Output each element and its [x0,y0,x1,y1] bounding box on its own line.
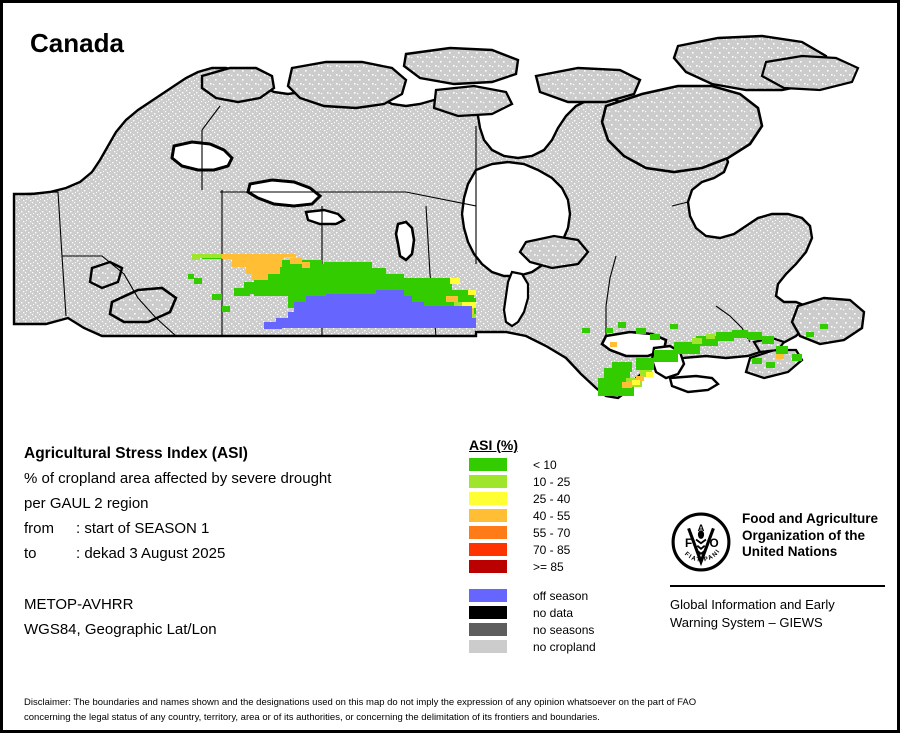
legend-label: 10 - 25 [533,475,570,489]
legend-label: no cropland [533,640,596,654]
legend-title: ASI (%) [469,437,518,453]
legend-swatch [469,475,507,488]
legend-label: 40 - 55 [533,509,570,523]
asi-region-level: per GAUL 2 region [24,491,444,516]
legend-label: >= 85 [533,560,564,574]
fao-logo-letter-o: O [709,537,718,550]
legend-label: 25 - 40 [533,492,570,506]
legend-label: no data [533,606,573,620]
legend-swatch [469,589,507,602]
giews-line2: Warning System – GIEWS [670,614,885,632]
legend-item: 40 - 55 [443,508,643,523]
map-description-block: Agricultural Stress Index (ASI) % of cro… [24,441,444,642]
legend-swatch [469,509,507,522]
period-from-row: from: start of SEASON 1 [24,516,444,541]
period-to-value: : dekad 3 August 2025 [76,545,225,562]
asi-heading: Agricultural Stress Index (ASI) [24,441,444,466]
fao-logo-letter-a: A [698,523,705,533]
legend-swatch [469,458,507,471]
legend-item: no seasons [443,622,643,637]
info-spacer [24,566,444,592]
southampton-island [520,236,588,268]
projection-label: WGS84, Geographic Lat/Lon [24,617,444,642]
period-to-label: to [24,541,76,566]
devon-island [536,68,640,102]
lake-winnipeg [396,222,414,260]
fao-branding-block: F A O FIAT PANIS Food and Agriculture Or… [670,511,885,632]
legend-swatch [469,543,507,556]
map-canvas[interactable]: Canada [6,6,900,406]
giews-line1: Global Information and Early [670,596,885,614]
legend-swatch [469,526,507,539]
legend-label: 55 - 70 [533,526,570,540]
fao-logo-icon: F A O FIAT PANIS [670,511,732,573]
map-landmass [14,36,864,398]
fao-organization-name: Food and Agriculture Organization of the… [742,511,878,561]
legend-item: 10 - 25 [443,474,643,489]
fao-name-line1: Food and Agriculture [742,511,878,528]
canada-map-svg [6,6,900,406]
fao-name-line3: United Nations [742,544,878,561]
period-from-label: from [24,516,76,541]
legend-swatch [469,606,507,619]
legend-label: 70 - 85 [533,543,570,557]
legend-swatch [469,640,507,653]
period-to-row: to: dekad 3 August 2025 [24,541,444,566]
legend-swatch [469,623,507,636]
sensor-label: METOP-AVHRR [24,592,444,617]
prince-of-wales-island [434,86,512,116]
period-from-value: : start of SEASON 1 [76,520,209,537]
fao-name-line2: Organization of the [742,528,878,545]
legend-item: 70 - 85 [443,542,643,557]
disclaimer-line2: concerning the legal status of any count… [24,710,874,725]
legend-item: 55 - 70 [443,525,643,540]
legend-item: no cropland [443,639,643,654]
fao-divider [670,585,885,587]
disclaimer: Disclaimer: The boundaries and names sho… [24,695,874,725]
legend-item: no data [443,605,643,620]
disclaimer-line1: Disclaimer: The boundaries and names sho… [24,695,874,710]
victoria-island [288,62,406,108]
lake-erie-ontario [670,376,718,392]
legend-item: < 10 [443,457,643,472]
fao-logo-letter-f: F [685,537,692,550]
legend-item: 25 - 40 [443,491,643,506]
legend-label: off season [533,589,588,603]
melville-island [404,48,518,84]
asi-map-page: Canada Agricultural Stress Index (ASI) %… [0,0,900,733]
legend-swatch [469,492,507,505]
arctic-islets-cluster [762,56,858,90]
giews-programme-name: Global Information and Early Warning Sys… [670,596,885,632]
legend-swatch [469,560,507,573]
fao-header: F A O FIAT PANIS Food and Agriculture Or… [670,511,885,573]
page-title: Canada [30,28,124,59]
asi-subtitle: % of cropland area affected by severe dr… [24,466,444,491]
banks-island [202,68,274,102]
newfoundland [792,298,864,344]
legend-item: >= 85 [443,559,643,574]
legend-item: off season [443,588,643,603]
legend-spacer [443,576,643,588]
legend: ASI (%) < 10 10 - 25 25 - 40 40 - 55 55 … [443,437,643,656]
legend-label: no seasons [533,623,594,637]
legend-label: < 10 [533,458,557,472]
